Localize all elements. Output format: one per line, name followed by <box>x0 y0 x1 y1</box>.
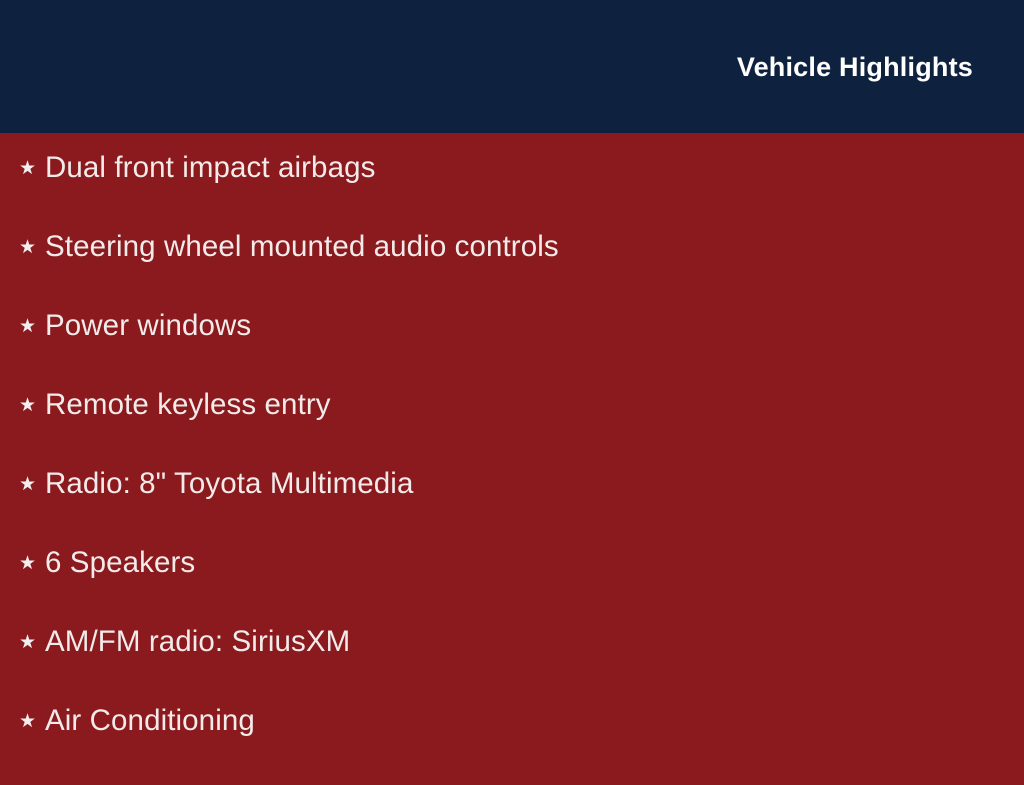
feature-label: Remote keyless entry <box>45 390 984 420</box>
list-item: ★ Air Conditioning <box>8 706 984 785</box>
list-item: ★ Remote keyless entry <box>8 390 984 469</box>
feature-label: Power windows <box>45 311 984 341</box>
page-title: Vehicle Highlights <box>737 51 973 83</box>
vehicle-highlights-slide: Vehicle Highlights ★ Dual front impact a… <box>0 0 1024 768</box>
star-bullet-icon: ★ <box>8 554 45 573</box>
star-bullet-icon: ★ <box>8 238 45 257</box>
feature-label: Steering wheel mounted audio controls <box>45 232 984 262</box>
feature-label: Radio: 8" Toyota Multimedia <box>45 469 984 499</box>
list-item: ★ Dual front impact airbags <box>8 153 984 232</box>
slide-body: ★ Dual front impact airbags ★ Steering w… <box>0 133 1024 785</box>
list-item: ★ Steering wheel mounted audio controls <box>8 232 984 311</box>
feature-label: Air Conditioning <box>45 706 984 736</box>
list-item: ★ Power windows <box>8 311 984 390</box>
star-bullet-icon: ★ <box>8 712 45 731</box>
list-item: ★ Radio: 8" Toyota Multimedia <box>8 469 984 548</box>
feature-label: Dual front impact airbags <box>45 153 984 183</box>
feature-label: AM/FM radio: SiriusXM <box>45 627 984 657</box>
slide-header: Vehicle Highlights <box>0 0 1024 133</box>
vehicle-feature-list: ★ Dual front impact airbags ★ Steering w… <box>8 153 984 785</box>
star-bullet-icon: ★ <box>8 396 45 415</box>
star-bullet-icon: ★ <box>8 475 45 494</box>
star-bullet-icon: ★ <box>8 633 45 652</box>
feature-label: 6 Speakers <box>45 548 984 578</box>
star-bullet-icon: ★ <box>8 317 45 336</box>
star-bullet-icon: ★ <box>8 159 45 178</box>
list-item: ★ AM/FM radio: SiriusXM <box>8 627 984 706</box>
list-item: ★ 6 Speakers <box>8 548 984 627</box>
